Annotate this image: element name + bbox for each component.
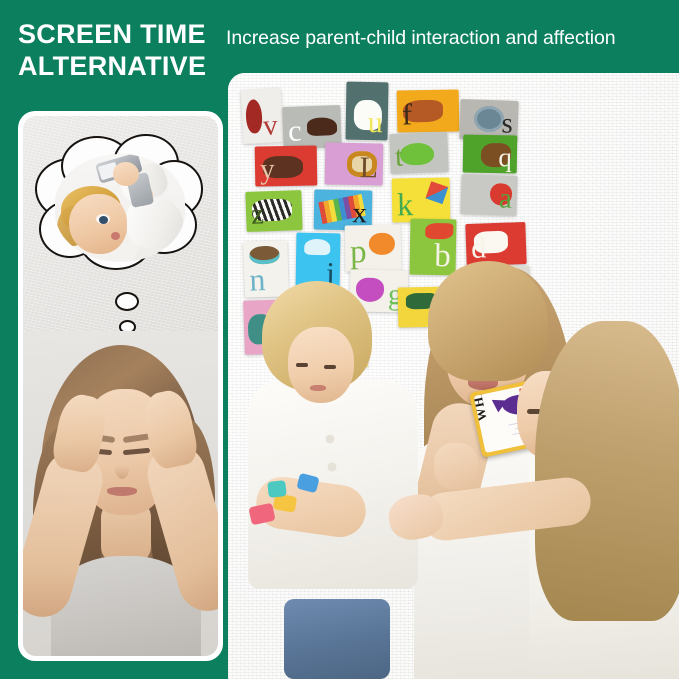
flashcard-letter: q <box>498 144 512 171</box>
toy-letter-teal[interactable] <box>267 480 287 498</box>
flashcard-letter: f <box>402 100 413 130</box>
screen-time-problem-photo <box>23 116 218 656</box>
toddler-eye <box>99 216 108 224</box>
snail-icon <box>474 105 505 132</box>
violin-icon <box>245 99 263 134</box>
turtle-icon <box>400 142 435 165</box>
bird-icon <box>425 223 453 239</box>
kite-icon <box>425 181 448 204</box>
left-photo-panel <box>18 111 223 661</box>
cat-icon <box>307 117 338 136</box>
toddler-jeans <box>284 599 390 679</box>
flashcard-l[interactable]: L <box>325 142 384 185</box>
girl-hair <box>535 321 679 621</box>
flashcard-letter: a <box>498 184 512 213</box>
flashcard-letter: u <box>368 108 384 138</box>
flashcard-letter: z <box>251 200 265 229</box>
jellyfish-icon <box>304 239 330 255</box>
flashcard-letter: v <box>262 111 278 141</box>
toddler-with-smartphone-image <box>55 154 185 262</box>
family-flashcard-scene: WHALE Blue whale 3 <box>228 259 679 679</box>
flashcard-letter: x <box>352 199 367 228</box>
flashcard-letter: L <box>359 153 378 183</box>
mother-hand <box>434 443 478 489</box>
flashcard-a[interactable]: a <box>460 174 517 216</box>
right-photo-panel: vcufsyLtqzxkanjpbdghrem WHALE Blue whale… <box>228 73 679 679</box>
thought-bubble <box>35 134 205 282</box>
flashcard-f[interactable]: f <box>397 89 460 132</box>
flashcard-letter: k <box>397 188 414 220</box>
title-line-alternative: ALTERNATIVE <box>18 50 218 82</box>
flashcard-letter: t <box>395 143 404 172</box>
flashcard-u[interactable]: u <box>345 82 388 141</box>
flashcard-letter: c <box>288 116 302 146</box>
stressed-mother-image <box>23 331 218 656</box>
title-block: SCREEN TIME ALTERNATIVE <box>18 18 218 82</box>
flashcard-k[interactable]: k <box>392 177 451 222</box>
title-line-screen-time: SCREEN TIME <box>18 18 218 50</box>
header-tagline: Increase parent-child interaction and af… <box>226 26 616 50</box>
pumpkin-icon <box>369 233 395 255</box>
flashcard-y[interactable]: y <box>255 145 318 186</box>
flashcard-v[interactable]: v <box>241 88 284 144</box>
flashcard-t[interactable]: t <box>389 132 448 174</box>
flashcard-z[interactable]: z <box>245 190 302 232</box>
thought-trail-bubble <box>115 292 139 311</box>
flashcard-q[interactable]: q <box>463 135 518 174</box>
flashcard-letter: y <box>260 155 275 184</box>
